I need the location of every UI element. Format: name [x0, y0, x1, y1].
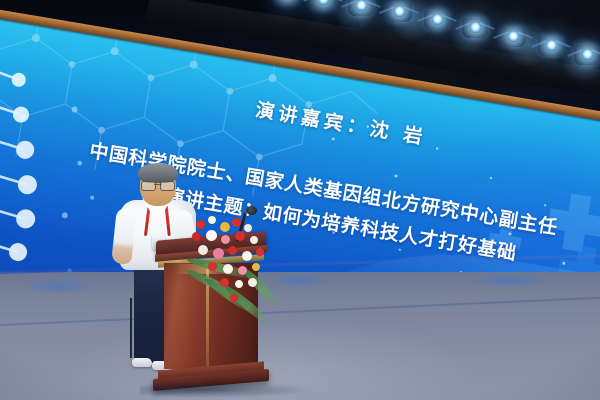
floral-arrangement: [190, 218, 310, 328]
spotlight-fixture: [538, 36, 564, 56]
flower-blossom: [192, 232, 201, 241]
speaker-hair: [138, 163, 178, 183]
flower-blossom: [235, 231, 245, 241]
flower-blossom: [196, 220, 205, 229]
speaker-shoe-left: [132, 358, 152, 367]
conference-stage-photo: 演讲嘉宾：沈 岩 中国科学院院士、国家人类基因组北方研究中心副主任 演讲主题：如…: [0, 0, 600, 400]
flower-blossom: [213, 248, 224, 259]
spotlight-fixture: [274, 0, 300, 4]
flower-blossom: [256, 248, 264, 256]
spotlight-fixture: [574, 45, 600, 65]
flower-blossom: [230, 294, 238, 302]
flower-blossom: [220, 222, 230, 232]
spotlight-fixture: [348, 0, 374, 16]
lectern-floor-shadow: [140, 382, 310, 398]
flower-blossom: [235, 280, 243, 288]
spotlight-fixture: [462, 18, 488, 38]
spotlight-fixture: [310, 0, 336, 10]
flower-blossom: [221, 235, 230, 244]
flower-blossom: [248, 278, 257, 287]
flower-blossom: [208, 262, 217, 271]
flower-blossom: [252, 263, 260, 271]
eyeglasses-icon: [141, 181, 175, 189]
flower-blossom: [228, 246, 237, 255]
stage-lighting-rig: [0, 0, 600, 130]
trouser-seam: [130, 298, 132, 358]
flower-blossom: [242, 251, 252, 261]
flower-blossom: [198, 245, 208, 255]
flower-blossom: [232, 218, 241, 227]
microphone-head-icon: [246, 206, 257, 215]
spotlight-fixture: [424, 10, 450, 30]
flower-blossom: [220, 278, 229, 287]
flower-blossom: [250, 236, 258, 244]
flower-blossom: [223, 264, 233, 274]
spotlight-fixture: [500, 27, 526, 47]
flower-blossom: [206, 230, 217, 241]
flower-blossom: [208, 216, 216, 224]
spotlight-fixture: [386, 2, 412, 22]
flower-blossom: [238, 266, 247, 275]
flower-blossom: [244, 224, 252, 232]
